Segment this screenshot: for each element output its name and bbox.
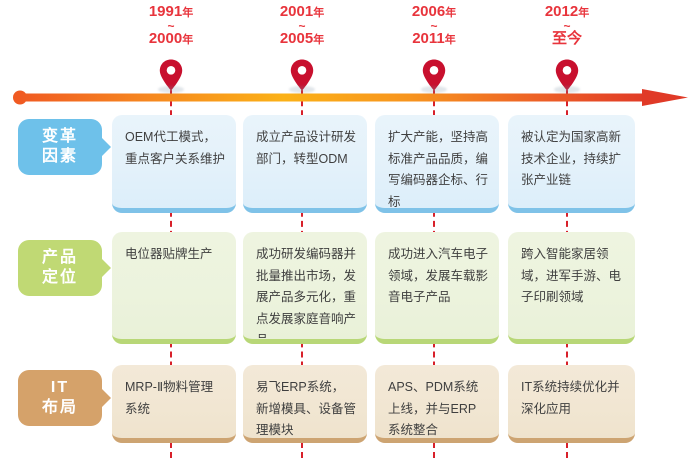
cell-text: 被认定为国家高新技术企业，持续扩张产业链 xyxy=(521,127,624,192)
map-pin-marker-2[interactable] xyxy=(282,58,322,92)
timeline-infographic: 1991年 ~ 2000年 2001年 ~ 2005年 2006年 ~ 2011… xyxy=(0,0,700,466)
cell-r2c2[interactable]: 成功研发编码器并批量推出市场，发展产品多元化，重点发展家庭音响产品 xyxy=(243,232,367,344)
date-end-3: 2011 xyxy=(412,30,445,47)
cell-r2c1[interactable]: 电位器贴牌生产 xyxy=(112,232,236,344)
row-label-line2: 因素 xyxy=(42,147,78,167)
row-label-notch xyxy=(102,138,111,156)
date-start-suffix-3: 年 xyxy=(445,7,456,19)
pin-shadow-1 xyxy=(158,86,184,93)
date-end-suffix-2: 年 xyxy=(313,34,324,46)
map-pin-marker-3[interactable] xyxy=(414,58,454,92)
date-end-1: 2000 xyxy=(149,30,182,47)
row-label-line2: 布局 xyxy=(42,398,78,418)
pin-shadow-4 xyxy=(554,86,580,93)
cell-text: 成功研发编码器并批量推出市场，发展产品多元化，重点发展家庭音响产品 xyxy=(256,244,356,344)
cell-r3c1[interactable]: MRP-Ⅱ物料管理系统 xyxy=(112,365,236,443)
pin-shadow-3 xyxy=(421,86,447,93)
date-end-2: 2005 xyxy=(280,30,313,47)
cell-text: IT系统持续优化并深化应用 xyxy=(521,377,624,420)
cell-r1c2[interactable]: 成立产品设计研发部门，转型ODM xyxy=(243,115,367,213)
date-start-2: 2001 xyxy=(280,3,313,20)
row-label-line1: 产品 xyxy=(42,248,78,268)
cell-r3c4[interactable]: IT系统持续优化并深化应用 xyxy=(508,365,635,443)
row-label-reform-factors: 变革 因素 xyxy=(18,119,102,175)
cell-text: 易飞ERP系统，新增模具、设备管理模块 xyxy=(256,377,356,442)
date-start-4: 2012 xyxy=(545,3,578,20)
row-label-notch xyxy=(102,389,111,407)
cell-r3c3[interactable]: APS、PDM系统上线，并与ERP系统整合 xyxy=(375,365,499,443)
date-start-suffix-4: 年 xyxy=(578,7,589,19)
cell-r2c3[interactable]: 成功进入汽车电子领域，发展车载影音电子产品 xyxy=(375,232,499,344)
cell-text: 成功进入汽车电子领域，发展车载影音电子产品 xyxy=(388,244,488,309)
date-end-suffix-1: 年 xyxy=(182,34,193,46)
row-label-notch xyxy=(102,259,111,277)
row-label-line2: 定位 xyxy=(42,268,78,288)
date-label-3: 2006年 ~ 2011年 xyxy=(374,4,494,47)
cell-r2c4[interactable]: 跨入智能家居领域，进军手游、电子印刷领域 xyxy=(508,232,635,344)
cell-text: 扩大产能，坚持高标准产品品质，编写编码器企标、行标 xyxy=(388,127,488,213)
row-label-line1: 变革 xyxy=(42,127,78,147)
row-label-line1: IT xyxy=(51,378,69,398)
date-start-suffix-1: 年 xyxy=(182,7,193,19)
cell-r3c2[interactable]: 易飞ERP系统，新增模具、设备管理模块 xyxy=(243,365,367,443)
map-pin-marker-1[interactable] xyxy=(151,58,191,92)
cell-text: MRP-Ⅱ物料管理系统 xyxy=(125,377,225,420)
date-start-1: 1991 xyxy=(149,3,182,20)
cell-r1c4[interactable]: 被认定为国家高新技术企业，持续扩张产业链 xyxy=(508,115,635,213)
date-label-2: 2001年 ~ 2005年 xyxy=(242,4,362,47)
date-start-suffix-2: 年 xyxy=(313,7,324,19)
cell-r1c1[interactable]: OEM代工模式，重点客户关系维护 xyxy=(112,115,236,213)
date-end-suffix-3: 年 xyxy=(445,34,456,46)
cell-text: 跨入智能家居领域，进军手游、电子印刷领域 xyxy=(521,244,624,309)
cell-text: 电位器贴牌生产 xyxy=(125,244,225,266)
map-pin-marker-4[interactable] xyxy=(547,58,587,92)
date-label-4: 2012年 ~ 至今 xyxy=(507,4,627,47)
row-label-product-positioning: 产品 定位 xyxy=(18,240,102,296)
row-label-it-layout: IT 布局 xyxy=(18,370,102,426)
date-label-1: 1991年 ~ 2000年 xyxy=(111,4,231,47)
cell-r1c3[interactable]: 扩大产能，坚持高标准产品品质，编写编码器企标、行标 xyxy=(375,115,499,213)
pin-shadow-2 xyxy=(289,86,315,93)
cell-text: 成立产品设计研发部门，转型ODM xyxy=(256,127,356,170)
date-start-3: 2006 xyxy=(412,3,445,20)
cell-text: APS、PDM系统上线，并与ERP系统整合 xyxy=(388,377,488,442)
date-end-4: 至今 xyxy=(552,30,582,47)
cell-text: OEM代工模式，重点客户关系维护 xyxy=(125,127,225,170)
